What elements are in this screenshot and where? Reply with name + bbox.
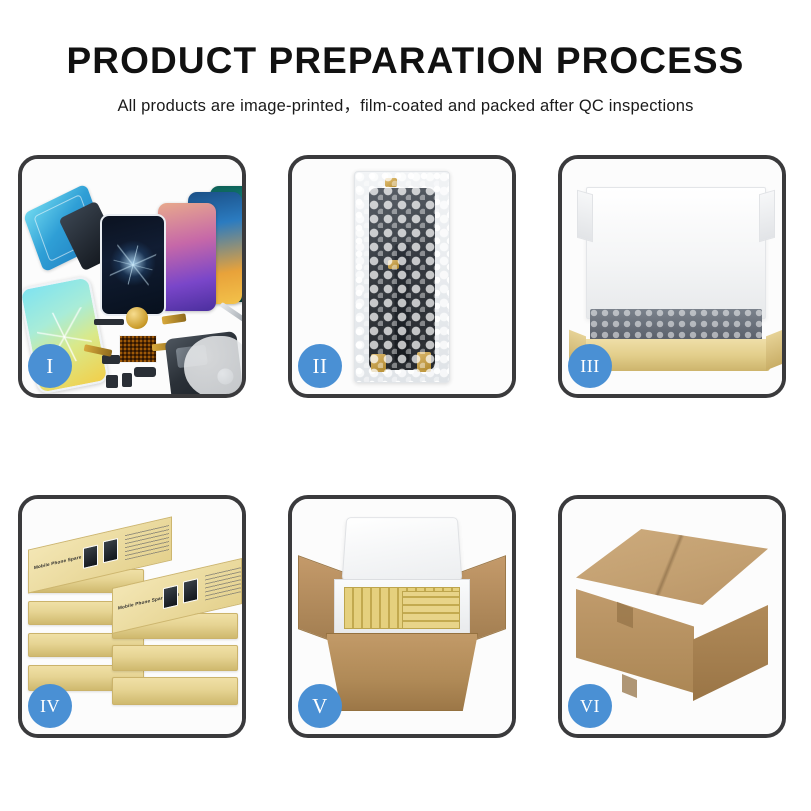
carton-top-face — [576, 529, 768, 605]
step-badge-4: IV — [28, 684, 72, 728]
connector-bottom-left — [371, 354, 386, 372]
tweezers — [220, 302, 246, 325]
yellow-boxes-row-b — [402, 591, 460, 629]
box-thumbnail-a — [163, 585, 178, 609]
header: PRODUCT PREPARATION PROCESS All products… — [0, 0, 811, 116]
carton-tape-lower — [622, 674, 637, 698]
connector-top — [385, 178, 397, 187]
small-part-d — [122, 373, 132, 387]
stacked-box — [112, 645, 238, 671]
box-thumbnail-b — [103, 538, 118, 563]
bubble-wrap-bag — [354, 171, 450, 383]
bubble-wrap-filler — [590, 309, 762, 343]
process-step-panel-3: III — [558, 155, 786, 398]
carton-front-panel — [326, 633, 478, 711]
flex-cable-a — [162, 313, 187, 324]
step-badge-6: VI — [568, 684, 612, 728]
process-step-panel-2: II — [288, 155, 516, 398]
process-step-panel-1: I — [18, 155, 246, 398]
small-part-b — [134, 367, 156, 377]
connector-bottom-right — [417, 352, 431, 372]
phone-cracked-black — [100, 214, 166, 316]
stacked-box — [112, 677, 238, 705]
white-box-lid — [586, 187, 766, 319]
connector-mid — [388, 260, 399, 269]
step-badge-2: II — [298, 344, 342, 388]
hand — [184, 336, 246, 398]
box-spec-lines — [205, 564, 242, 600]
process-step-panel-6: VI — [558, 495, 786, 738]
carton-right-face — [693, 605, 768, 701]
step-badge-1: I — [28, 344, 72, 388]
small-part-a — [102, 355, 120, 364]
gold-component — [126, 307, 148, 329]
product-preparation-process-infographic: PRODUCT PREPARATION PROCESS All products… — [0, 0, 811, 811]
step-badge-5: V — [298, 684, 342, 728]
step-badge-3: III — [568, 344, 612, 388]
process-step-panel-5: V — [288, 495, 516, 738]
page-title: PRODUCT PREPARATION PROCESS — [0, 42, 811, 81]
box-spec-lines — [125, 524, 169, 560]
process-steps-grid: I II I — [18, 155, 793, 738]
page-subtitle: All products are image-printed，film-coat… — [0, 92, 811, 116]
phone-purple — [158, 203, 216, 311]
foam-box-lid — [342, 517, 463, 581]
process-step-panel-4: Mobile Phone Spare Parts Mobile Phone Sp… — [18, 495, 246, 738]
box-thumbnail-a — [83, 544, 98, 568]
speaker-part — [94, 319, 124, 325]
small-part-c — [106, 375, 118, 388]
carton-left-face — [576, 589, 694, 693]
box-thumbnail-b — [183, 578, 198, 603]
